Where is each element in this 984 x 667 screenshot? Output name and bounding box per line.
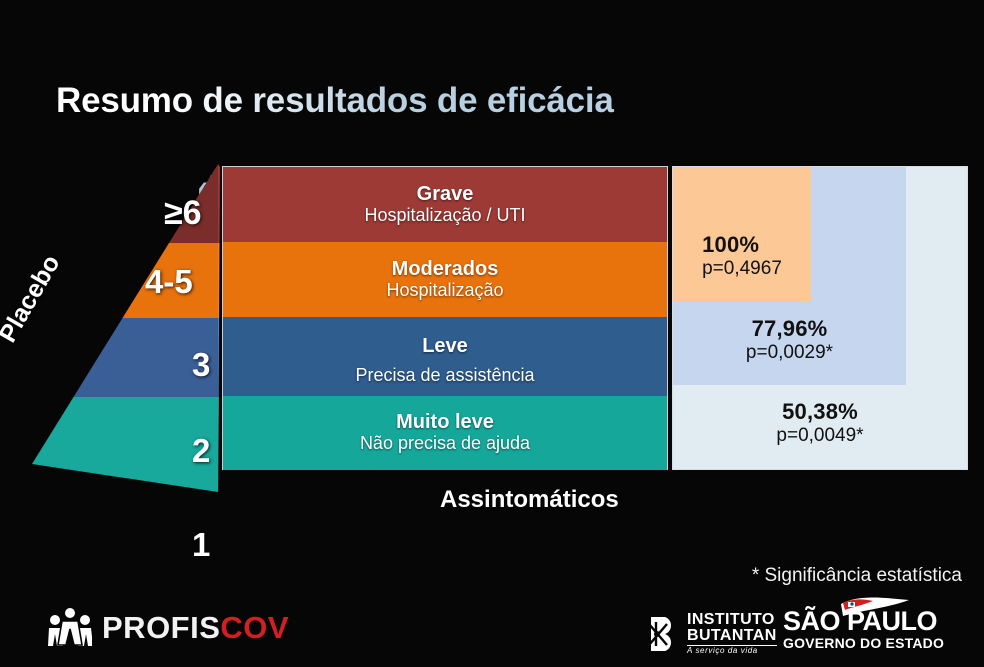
efficacy-value: 50,38% — [673, 400, 967, 425]
efficacy-pvalue: p=0,0049* — [673, 425, 967, 447]
efficacy-value: 100% — [702, 233, 782, 258]
butantan-logo: INSTITUTO BUTANTAN A serviço da vida — [645, 612, 777, 655]
severity-bar-muito-leve: Muito leve Não precisa de ajuda — [223, 396, 667, 470]
step-label-2: 2 — [192, 432, 210, 470]
profiscov-part1: PROFIS — [102, 610, 220, 645]
efficacy-pvalue: p=0,4967 — [702, 258, 782, 280]
sao-paulo-line-2: GOVERNO DO ESTADO — [783, 636, 944, 650]
efficacy-value: 77,96% — [673, 317, 906, 342]
sao-paulo-logo: SÃO PAULO GOVERNO DO ESTADO — [783, 608, 944, 650]
severity-title: Grave — [417, 184, 474, 205]
efficacy-panel: 50,38% p=0,0049* 77,96% p=0,0029* 100% p… — [672, 166, 968, 470]
severity-subtitle: Hospitalização — [386, 280, 503, 300]
severity-title: Moderados — [392, 259, 499, 280]
profiscov-logo: PROFISCOV — [48, 607, 289, 647]
butantan-wordmark: INSTITUTO BUTANTAN A serviço da vida — [687, 612, 777, 655]
severity-bars: Grave Hospitalização / UTI Moderados Hos… — [222, 166, 668, 470]
severity-subtitle: Hospitalização / UTI — [364, 205, 525, 225]
people-group-icon — [48, 607, 92, 647]
severity-subtitle: Não precisa de ajuda — [360, 433, 530, 453]
severity-subtitle: Precisa de assistência — [355, 365, 534, 385]
statistical-significance-note: * Significância estatística — [752, 565, 962, 587]
severity-title: Leve — [422, 336, 468, 357]
efficacy-pvalue: p=0,0029* — [673, 342, 906, 364]
step-label-3: 3 — [192, 346, 210, 384]
step-label-1: 1 — [192, 526, 210, 564]
profiscov-part2: COV — [220, 610, 289, 645]
pyramid-base-caption: Assintomáticos — [440, 486, 619, 514]
severity-bar-grave: Grave Hospitalização / UTI — [223, 167, 667, 242]
butantan-line-1: INSTITUTO — [687, 612, 777, 628]
butantan-b-icon — [645, 615, 679, 653]
title-line-1: Resumo de resultados de eficácia — [56, 79, 776, 124]
severity-bar-moderados: Moderados Hospitalização — [223, 242, 667, 317]
profiscov-wordmark: PROFISCOV — [102, 612, 289, 643]
butantan-line-2: BUTANTAN — [687, 628, 777, 644]
severity-title: Muito leve — [396, 412, 494, 433]
step-label-45: 4-5 — [145, 263, 193, 301]
step-label-6: ≥6 — [164, 194, 202, 233]
slide-canvas: Resumo de resultados de eficácia 9242 pa… — [0, 0, 984, 667]
severity-bar-leve: Leve Precisa de assistência — [223, 317, 667, 396]
sp-flag-icon — [839, 596, 911, 622]
efficacy-block-100: 100% p=0,4967 — [673, 167, 811, 302]
butantan-tagline: A serviço da vida — [687, 645, 777, 655]
